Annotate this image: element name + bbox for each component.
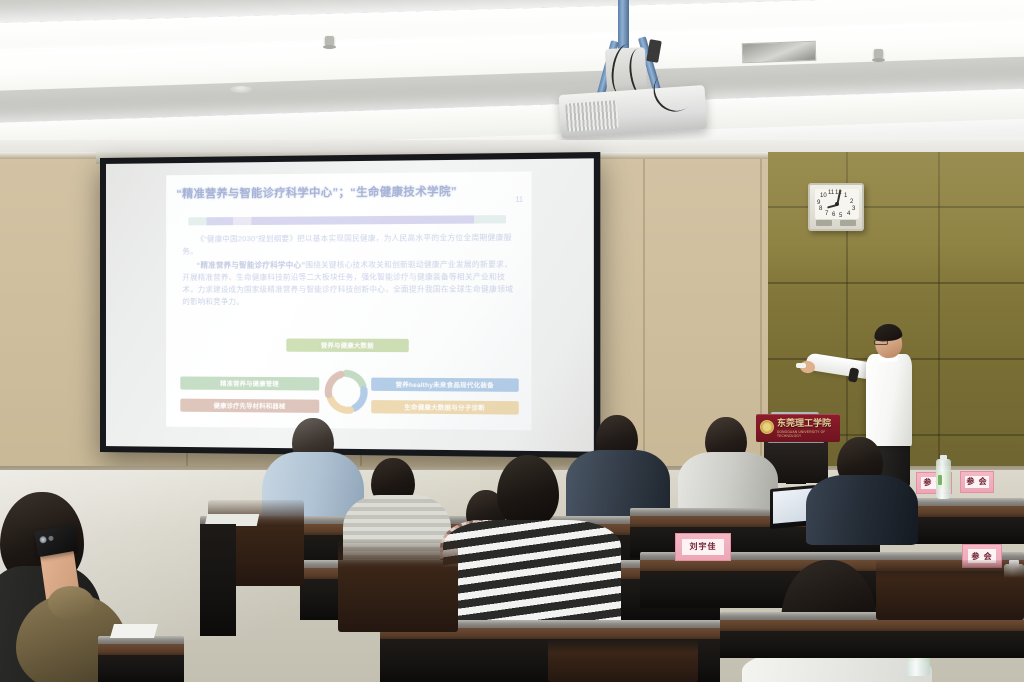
slide-paragraph-1: 《“健康中国2030”规划纲要》把以基本实现国民健康，为人民高水平的全方位全周期… xyxy=(182,232,516,258)
name-card-text: 参 会 xyxy=(965,476,989,488)
podium-university-name-en: DONGGUAN UNIVERSITY OF TECHNOLOGY xyxy=(777,430,837,438)
ceiling-vent xyxy=(742,41,817,64)
sprinkler-icon xyxy=(874,49,883,60)
laser-pointer[interactable] xyxy=(796,363,806,368)
desk-row xyxy=(98,636,184,682)
projector-vent-grille xyxy=(565,100,619,132)
eyeglasses-icon xyxy=(874,340,888,345)
projected-slide: “精准营养与智能诊疗科学中心”；“生命健康技术学院” 11 《“健康中国2030… xyxy=(166,171,531,430)
cycle-diagram-icon xyxy=(321,367,371,416)
phone-camera-lens-icon xyxy=(48,535,54,541)
slide-pill-left-top: 精准营养与健康管理 xyxy=(180,376,319,390)
wood-panel-line xyxy=(768,282,1024,284)
clock-numeral: 7 xyxy=(825,211,828,217)
clock-center-dot xyxy=(835,202,839,206)
clock-face: 12 1 2 3 4 5 6 7 8 9 10 11 xyxy=(815,189,859,219)
name-card-text: 刘宇佳 xyxy=(682,539,723,555)
audience-head xyxy=(497,455,559,527)
name-card: 刘宇佳 xyxy=(675,533,731,561)
clock-numeral: 9 xyxy=(817,200,820,206)
desk-panel xyxy=(720,631,1024,658)
slide-paragraph-2-lead: “精准营养与智能诊疗科学中心” xyxy=(196,260,305,269)
bottle-label xyxy=(936,471,951,489)
bottle-cap xyxy=(940,455,947,460)
podium-university-name: 东莞理工学院 xyxy=(777,419,837,428)
clock-numeral: 8 xyxy=(819,206,822,212)
slide-pill-right-bottom: 生命健康大数据与分子诊断 xyxy=(371,400,519,415)
paper-sheet xyxy=(110,624,158,638)
ceiling-dome-light xyxy=(230,86,252,93)
audience-torso xyxy=(806,475,918,545)
projection-screen: “精准营养与智能诊疗科学中心”；“生命健康技术学院” 11 《“健康中国2030… xyxy=(100,152,600,458)
desk-panel xyxy=(98,655,184,682)
clock-numeral: 11 xyxy=(828,190,834,196)
clock-button[interactable] xyxy=(816,220,832,226)
chair-back xyxy=(548,640,698,682)
wall-seam xyxy=(643,152,645,482)
wood-panel-highlight xyxy=(768,152,1024,272)
hair-bun xyxy=(48,586,94,620)
slide-title-underline xyxy=(188,215,506,225)
podium-front-panel: 东莞理工学院 DONGGUAN UNIVERSITY OF TECHNOLOGY xyxy=(756,414,840,442)
presenter-shirt xyxy=(866,354,912,446)
slide-page-number: 11 xyxy=(515,196,523,203)
clock-button[interactable] xyxy=(840,220,856,226)
phone-camera-lens-icon xyxy=(39,536,47,544)
wall-clock: 12 1 2 3 4 5 6 7 8 9 10 11 xyxy=(808,183,864,231)
clock-numeral: 6 xyxy=(832,212,835,218)
slide-title: “精准营养与智能诊疗科学中心”；“生命健康技术学院” xyxy=(176,184,518,202)
desk-row xyxy=(900,498,1024,544)
chair-back xyxy=(876,560,1024,620)
clock-numeral: 10 xyxy=(820,193,827,199)
lecture-hall-photo: 12 1 2 3 4 5 6 7 8 9 10 11 “精准营养与智能诊疗科学中… xyxy=(0,0,1024,682)
slide-pill-top: 营养与健康大数据 xyxy=(286,339,408,353)
desk-panel xyxy=(900,517,1024,544)
desk-panel xyxy=(200,524,236,636)
desk-pedestal xyxy=(200,524,236,636)
slide-pill-left-bottom: 健康诊疗先导材料和器械 xyxy=(180,399,319,413)
ceiling xyxy=(0,0,1024,160)
clock-numeral: 1 xyxy=(844,193,847,199)
clock-numeral: 3 xyxy=(852,206,855,212)
clock-numeral: 2 xyxy=(850,199,853,205)
chair-back xyxy=(338,540,458,632)
screen-surface: “精准营养与智能诊疗科学中心”；“生命健康技术学院” 11 《“健康中国2030… xyxy=(106,158,594,451)
ceiling-projector xyxy=(556,0,716,136)
university-emblem-icon xyxy=(760,420,774,434)
name-card: 参 会 xyxy=(960,471,994,493)
sprinkler-icon xyxy=(325,36,334,47)
clock-numeral: 5 xyxy=(839,213,842,219)
slide-pill-right-top: 营养healthy未来食品现代化装备 xyxy=(371,378,519,392)
slide-paragraph-2: “精准营养与智能诊疗科学中心”围绕关键核心技术攻关和创新驱动健康产业发展的新要求… xyxy=(182,258,516,308)
clock-numeral: 4 xyxy=(847,211,850,217)
